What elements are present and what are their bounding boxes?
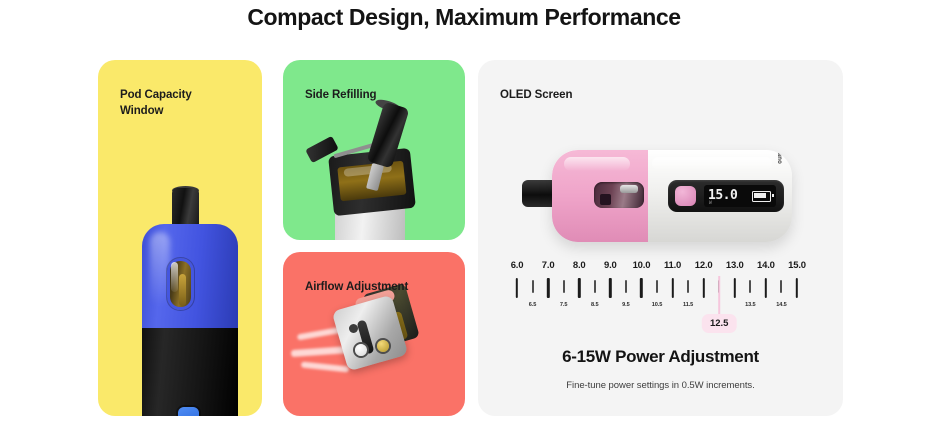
ruler-minor-label: 6.5 [529, 302, 536, 308]
device-shell: 15.0 W Podnano [552, 150, 792, 242]
ruler-minor-label: 10.5 [652, 302, 663, 308]
ruler-major-label: 10.0 [633, 260, 651, 271]
ruler-selected-marker-line [718, 276, 720, 318]
ruler-major-label: 8.0 [573, 260, 586, 271]
device-illustration: 15.0 W Podnano [522, 146, 792, 252]
ruler-major-tick [702, 278, 704, 298]
ruler-major-label: 14.0 [757, 260, 775, 271]
ruler-minor-tick [532, 280, 534, 293]
ruler-major-label: 7.0 [542, 260, 555, 271]
ruler-major-tick [640, 278, 642, 298]
ruler-major-tick [516, 278, 518, 298]
card-side-refilling[interactable]: Side Refilling [283, 60, 465, 240]
ruler-minor-tick [594, 280, 596, 293]
card-pod-capacity-label-line2: Window [120, 103, 192, 119]
card-pod-capacity-label-line1: Pod Capacity [120, 87, 192, 103]
device-gloss-highlight [652, 157, 772, 170]
ruler-minor-tick [780, 280, 782, 293]
card-oled-label: OLED Screen [500, 87, 572, 103]
ruler-major-label: 11.0 [664, 260, 681, 271]
card-pod-capacity[interactable]: Pod Capacity Window [98, 60, 262, 416]
card-airflow-adjustment[interactable]: Airflow Adjustment [283, 252, 465, 416]
pod-capacity-window-icon [167, 258, 194, 310]
battery-icon [752, 191, 771, 202]
ruler-major-label: 13.0 [726, 260, 744, 271]
airflow-contact-silver-icon [355, 344, 367, 356]
ruler-major-label: 9.0 [604, 260, 617, 271]
ruler-minor-tick [687, 280, 689, 293]
ruler-major-label: 6.0 [511, 260, 524, 271]
airflow-illustration [283, 252, 465, 416]
ruler-major-tick [609, 278, 611, 298]
ruler-minor-tick [625, 280, 627, 293]
page-title: Compact Design, Maximum Performance [0, 4, 928, 31]
ruler-selected-badge[interactable]: 12.5 [702, 314, 737, 333]
card-oled-screen[interactable]: OLED Screen 15.0 W Podnano 6.07.08.09.01… [478, 60, 843, 416]
ruler-minor-labels: 6.57.58.59.510.511.513.514.5 [508, 302, 806, 314]
airflow-stream-3 [301, 362, 349, 373]
device-brand-suffix: nano [775, 150, 781, 164]
ruler-major-tick [734, 278, 736, 298]
device-oled-display: 15.0 W [704, 185, 776, 207]
ruler-minor-label: 13.5 [745, 302, 756, 308]
device-brand-logo: Podnano [769, 150, 784, 164]
ruler-minor-tick [749, 280, 751, 293]
ruler-minor-tick [656, 280, 658, 293]
ruler-major-labels: 6.07.08.09.010.011.012.013.014.015.0 [508, 260, 806, 274]
oled-wattage-value: 15.0 [708, 188, 737, 203]
ruler-major-label: 12.0 [695, 260, 713, 271]
pod-fire-button-icon [178, 407, 199, 416]
card-airflow-label: Airflow Adjustment [305, 279, 408, 295]
ruler-major-tick [547, 278, 549, 298]
ruler-minor-label: 9.5 [622, 302, 629, 308]
card-pod-capacity-label: Pod Capacity Window [120, 87, 192, 119]
ruler-minor-label: 11.5 [683, 302, 693, 308]
card-side-refilling-label: Side Refilling [305, 87, 376, 103]
device-fire-button-icon[interactable] [675, 186, 696, 206]
ruler-minor-label: 8.5 [591, 302, 598, 308]
pod-body-black [142, 328, 238, 416]
device-screen-bar: 15.0 W [668, 180, 784, 212]
ruler-minor-label: 14.5 [776, 302, 787, 308]
airflow-contact-gold-icon [377, 340, 389, 352]
ruler-ticks [508, 278, 806, 300]
power-scale-ruler[interactable]: 6.07.08.09.010.011.012.013.014.015.0 6.5… [508, 260, 806, 322]
ruler-major-tick [765, 278, 767, 298]
ruler-major-label: 15.0 [788, 260, 806, 271]
ruler-major-tick [671, 278, 673, 298]
ruler-major-tick [796, 278, 798, 298]
power-heading: 6-15W Power Adjustment [478, 347, 843, 367]
ruler-major-tick [578, 278, 580, 298]
ruler-minor-label: 7.5 [560, 302, 567, 308]
device-pod-window-icon [594, 182, 644, 208]
power-subtext: Fine-tune power settings in 0.5W increme… [478, 380, 843, 391]
oled-unit-label: W [709, 201, 712, 206]
ruler-minor-tick [563, 280, 565, 293]
